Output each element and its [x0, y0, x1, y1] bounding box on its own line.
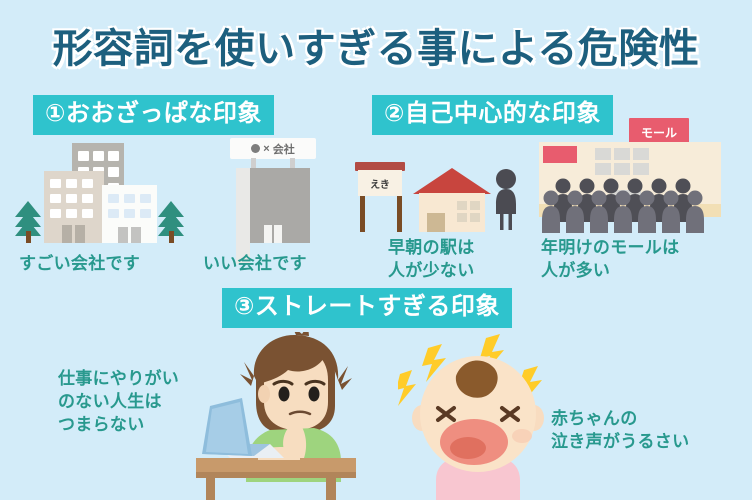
crowd-person-front-icon — [565, 190, 585, 233]
section-banner-3: ③ストレートすぎる印象 — [222, 288, 512, 328]
building-mid-icon — [44, 171, 104, 243]
caption-sugoi-company: すごい会社です — [19, 253, 140, 276]
illustration-bored-man-at-laptop — [196, 332, 361, 500]
company-sign-label: 会社 — [273, 141, 295, 157]
company-sign: × 会社 — [230, 138, 316, 159]
crowd-person-front-icon — [661, 190, 681, 233]
company-building-icon — [236, 168, 310, 243]
station-house-icon — [413, 168, 491, 232]
illustration-mall: モール — [533, 118, 733, 233]
crowd-person-front-icon — [613, 190, 633, 233]
section-banner-1: ①おおざっぱな印象 — [33, 95, 274, 135]
tree-icon — [158, 197, 184, 243]
caption-ii-company: いい会社です — [203, 253, 307, 276]
building-white-icon — [102, 185, 157, 243]
caption-baby: 赤ちゃんの 泣き声がうるさい — [551, 408, 689, 454]
illustration-buildings-group — [10, 138, 185, 243]
illustration-crying-baby — [398, 330, 558, 500]
caption-work: 仕事にやりがい のない人生は つまらない — [58, 368, 179, 437]
crowd-person-front-icon — [589, 190, 609, 233]
circle-mark-icon — [251, 144, 260, 153]
page-title: 形容詞を使いすぎる事による危険性 — [0, 16, 752, 74]
crowd-person-front-icon — [541, 190, 561, 233]
caption-station: 早朝の駅は 人が少ない — [388, 237, 475, 283]
crowd-person-front-icon — [685, 190, 705, 233]
person-figure-icon — [495, 168, 517, 230]
illustration-company-building: × 会社 — [218, 138, 328, 243]
station-sign-label: えき — [358, 170, 402, 196]
infographic-poster: 形容詞を使いすぎる事による危険性 ①おおざっぱな印象 ②自己中心的な印象 ③スト… — [0, 0, 752, 500]
lightning-bolt-icon — [398, 370, 416, 406]
tree-icon — [15, 197, 41, 243]
illustration-station: えき — [358, 160, 518, 232]
mall-accent-block — [543, 146, 577, 163]
cross-mark-icon: × — [263, 143, 269, 155]
caption-mall: 年明けのモールは 人が多い — [541, 237, 679, 283]
crowd-person-front-icon — [637, 190, 657, 233]
